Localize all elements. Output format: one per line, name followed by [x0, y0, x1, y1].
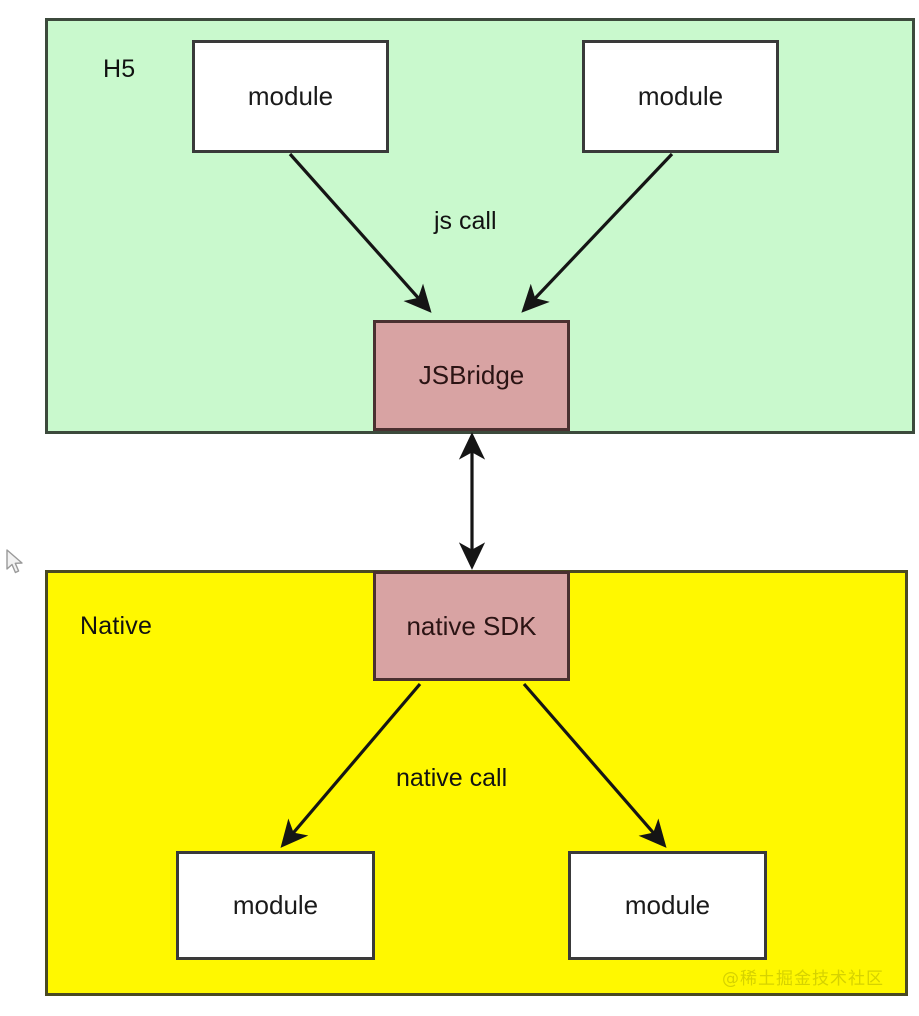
edge-label-native-call: native call — [396, 764, 507, 793]
mouse-pointer-icon — [5, 548, 27, 576]
node-native-module-right[interactable]: module — [568, 851, 767, 960]
edge-h5-left-to-bridge — [290, 154, 429, 310]
node-h5-module-right[interactable]: module — [582, 40, 779, 153]
node-jsbridge[interactable]: JSBridge — [373, 320, 570, 431]
edge-label-js-call: js call — [434, 207, 497, 236]
node-h5-module-left[interactable]: module — [192, 40, 389, 153]
diagram-canvas: H5 Native module module JSBridge native … — [0, 0, 919, 1016]
node-native-module-left[interactable]: module — [176, 851, 375, 960]
node-native-sdk[interactable]: native SDK — [373, 571, 570, 681]
connector-layer — [0, 0, 919, 1016]
edge-sdk-to-right — [524, 684, 664, 845]
edge-h5-right-to-bridge — [524, 154, 672, 310]
watermark-text: @稀土掘金技术社区 — [722, 964, 884, 989]
